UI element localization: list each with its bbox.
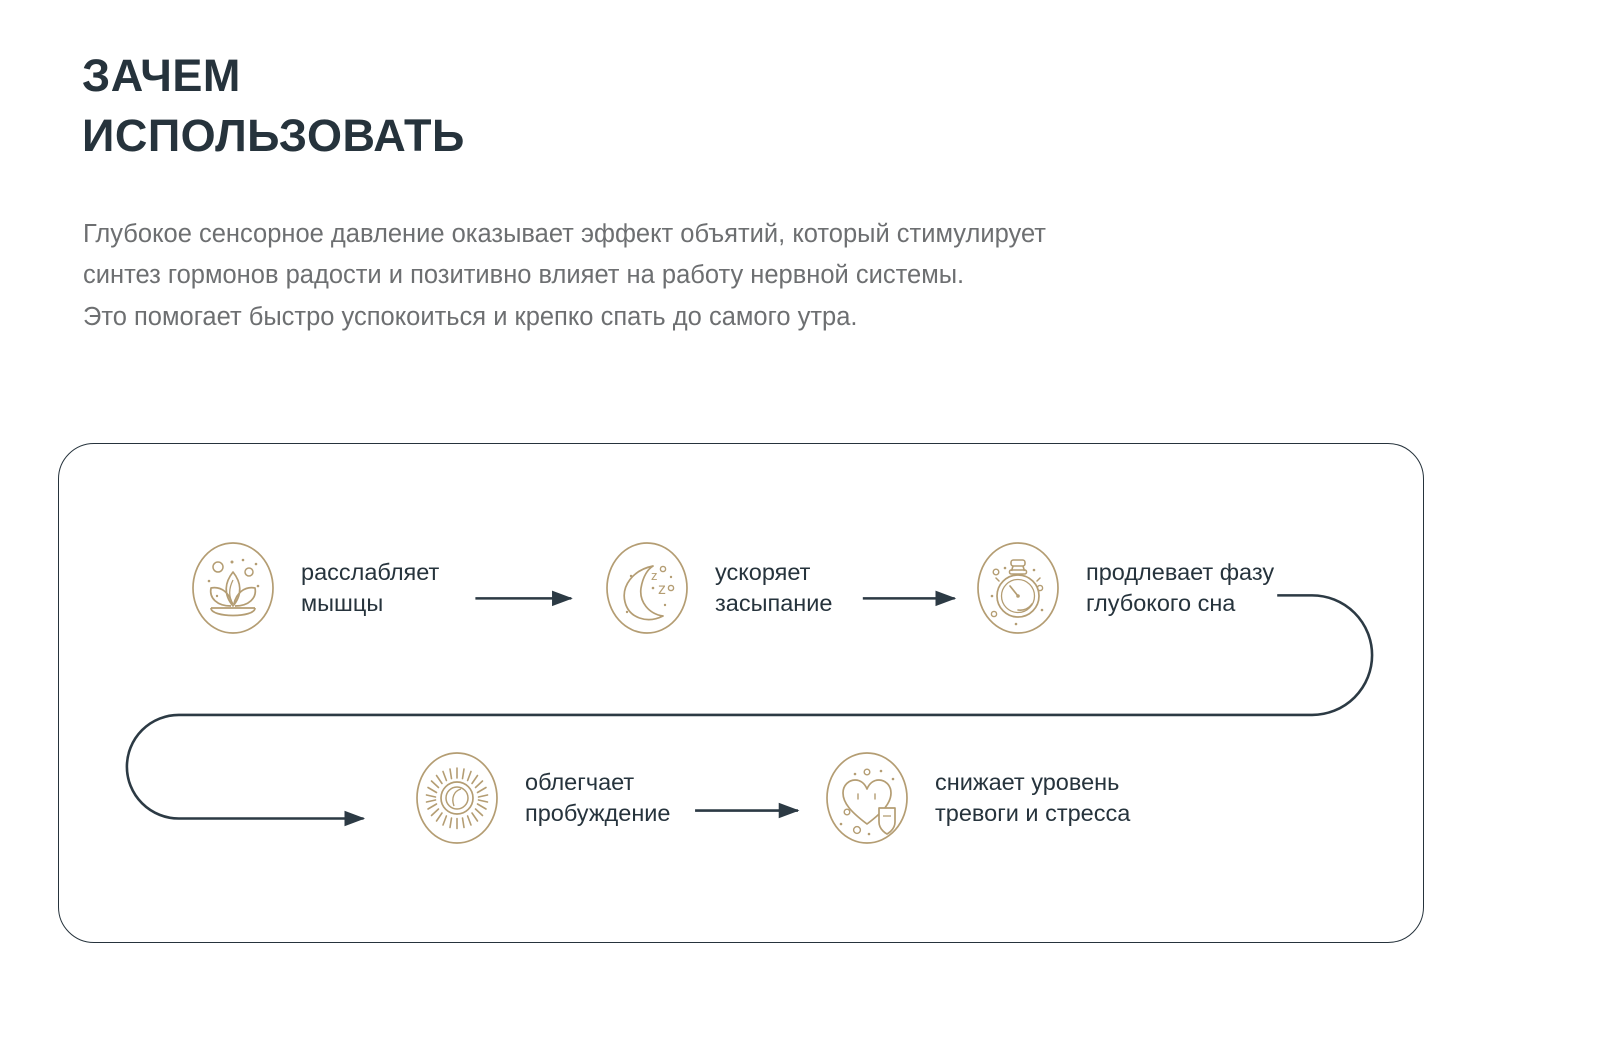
heart-shield-icon — [821, 746, 913, 850]
svg-text:z: z — [658, 581, 666, 598]
flow-step-2-label-line-1: ускоряет — [715, 557, 832, 588]
page-title-line-1: ЗАЧЕМ — [82, 46, 982, 106]
flow-step-5-label: снижает уровень тревоги и стресса — [935, 767, 1130, 830]
flow-connectors — [59, 444, 1423, 942]
flow-step-speeds-falling-asleep[interactable]: z z ускоряет засыпание — [601, 536, 832, 640]
svg-text:z: z — [651, 568, 658, 583]
flow-step-eases-waking-up[interactable]: облегчает пробуждение — [411, 746, 671, 850]
flow-step-5-label-line-1: снижает уровень — [935, 767, 1130, 798]
flow-diagram-container: расслабляет мышцы z z — [58, 443, 1424, 943]
flow-step-5-label-line-2: тревоги и стресса — [935, 798, 1130, 829]
flow-step-3-label: продлевает фазу глубокого сна — [1086, 557, 1274, 620]
flow-step-4-label-line-1: облегчает — [525, 767, 671, 798]
flow-step-relaxes-muscles[interactable]: расслабляет мышцы — [187, 536, 439, 640]
sun-icon — [411, 746, 503, 850]
flow-step-3-label-line-2: глубокого сна — [1086, 588, 1274, 619]
intro-line-3: Это помогает быстро успокоиться и крепко… — [83, 297, 1383, 338]
page-title-line-2: ИСПОЛЬЗОВАТЬ — [82, 106, 982, 166]
stopwatch-icon — [972, 536, 1064, 640]
flow-step-extends-deep-sleep[interactable]: продлевает фазу глубокого сна — [972, 536, 1274, 640]
intro-line-1: Глубокое сенсорное давление оказывает эф… — [83, 214, 1383, 255]
flow-step-4-label-line-2: пробуждение — [525, 798, 671, 829]
flow-step-3-label-line-1: продлевает фазу — [1086, 557, 1274, 588]
flow-step-1-label-line-1: расслабляет — [301, 557, 439, 588]
flow-step-1-label: расслабляет мышцы — [301, 557, 439, 620]
flow-step-2-label: ускоряет засыпание — [715, 557, 832, 620]
flow-step-reduces-anxiety-stress[interactable]: снижает уровень тревоги и стресса — [821, 746, 1130, 850]
moon-zzz-icon: z z — [601, 536, 693, 640]
page-title: ЗАЧЕМ ИСПОЛЬЗОВАТЬ — [82, 46, 982, 166]
flow-step-1-label-line-2: мышцы — [301, 588, 439, 619]
flow-step-2-label-line-2: засыпание — [715, 588, 832, 619]
intro-line-2: синтез гормонов радости и позитивно влия… — [83, 255, 1383, 296]
lotus-icon — [187, 536, 279, 640]
intro-paragraph: Глубокое сенсорное давление оказывает эф… — [83, 214, 1383, 338]
flow-step-4-label: облегчает пробуждение — [525, 767, 671, 830]
